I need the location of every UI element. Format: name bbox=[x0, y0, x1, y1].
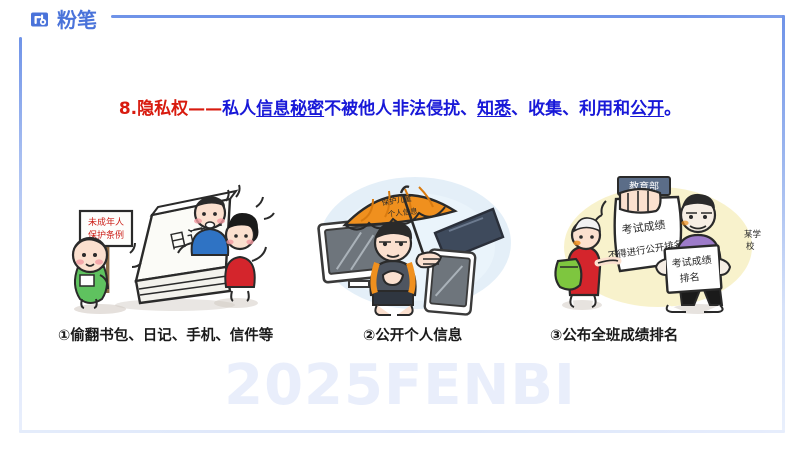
caption-example-3: ③公布全班成绩排名 bbox=[550, 324, 678, 345]
title-number: 8. bbox=[119, 99, 137, 119]
brand-logo: 粉笔 bbox=[28, 9, 97, 30]
title-segment-2: 不被他人非法侵扰、 bbox=[324, 99, 477, 119]
title-dash: —— bbox=[188, 99, 222, 119]
fb-logo-icon bbox=[28, 9, 54, 30]
svg-text:某学: 某学 bbox=[744, 229, 762, 240]
frame-edge-top bbox=[111, 15, 785, 18]
caption-row: ①偷翻书包、日记、手机、信件等 ②公开个人信息 ③公布全班成绩排名 bbox=[40, 324, 770, 348]
title-segment-4: 。 bbox=[664, 99, 681, 119]
svg-text:校: 校 bbox=[746, 241, 755, 252]
brand-logo-text: 粉笔 bbox=[57, 10, 97, 30]
caption-example-2: ②公开个人信息 bbox=[363, 324, 462, 345]
svg-text:未成年人: 未成年人 bbox=[88, 216, 124, 228]
title-underline-3: 公开 bbox=[630, 99, 664, 119]
title-underline-2: 知悉 bbox=[477, 99, 511, 119]
title-segment-1: 私人 bbox=[222, 99, 256, 119]
frame-edge-bottom bbox=[19, 430, 785, 433]
illustration-row: 未成年人 保护条例 bbox=[40, 158, 770, 323]
title-segment-3: 、收集、利用和 bbox=[511, 99, 630, 119]
illustration-diary-snooping: 未成年人 保护条例 bbox=[40, 163, 290, 323]
title-term: 隐私权 bbox=[137, 99, 188, 119]
caption-example-1: ①偷翻书包、日记、手机、信件等 bbox=[58, 324, 273, 345]
title-underline-1: 信息秘密 bbox=[256, 99, 324, 119]
watermark-text: 2025FENBI bbox=[0, 353, 800, 418]
slide-canvas: 粉笔 2025FENBI 8.隐私权——私人信息秘密不被他人非法侵扰、知悉、收集… bbox=[0, 0, 800, 450]
illustration-umbrella-devices: 保护儿童 个人信息 bbox=[315, 163, 515, 323]
illustration-exam-ranking: 教育部 考试成绩 不得进行公开排名 bbox=[540, 163, 770, 323]
page-title: 8.隐私权——私人信息秘密不被他人非法侵扰、知悉、收集、利用和公开。 bbox=[0, 94, 800, 119]
